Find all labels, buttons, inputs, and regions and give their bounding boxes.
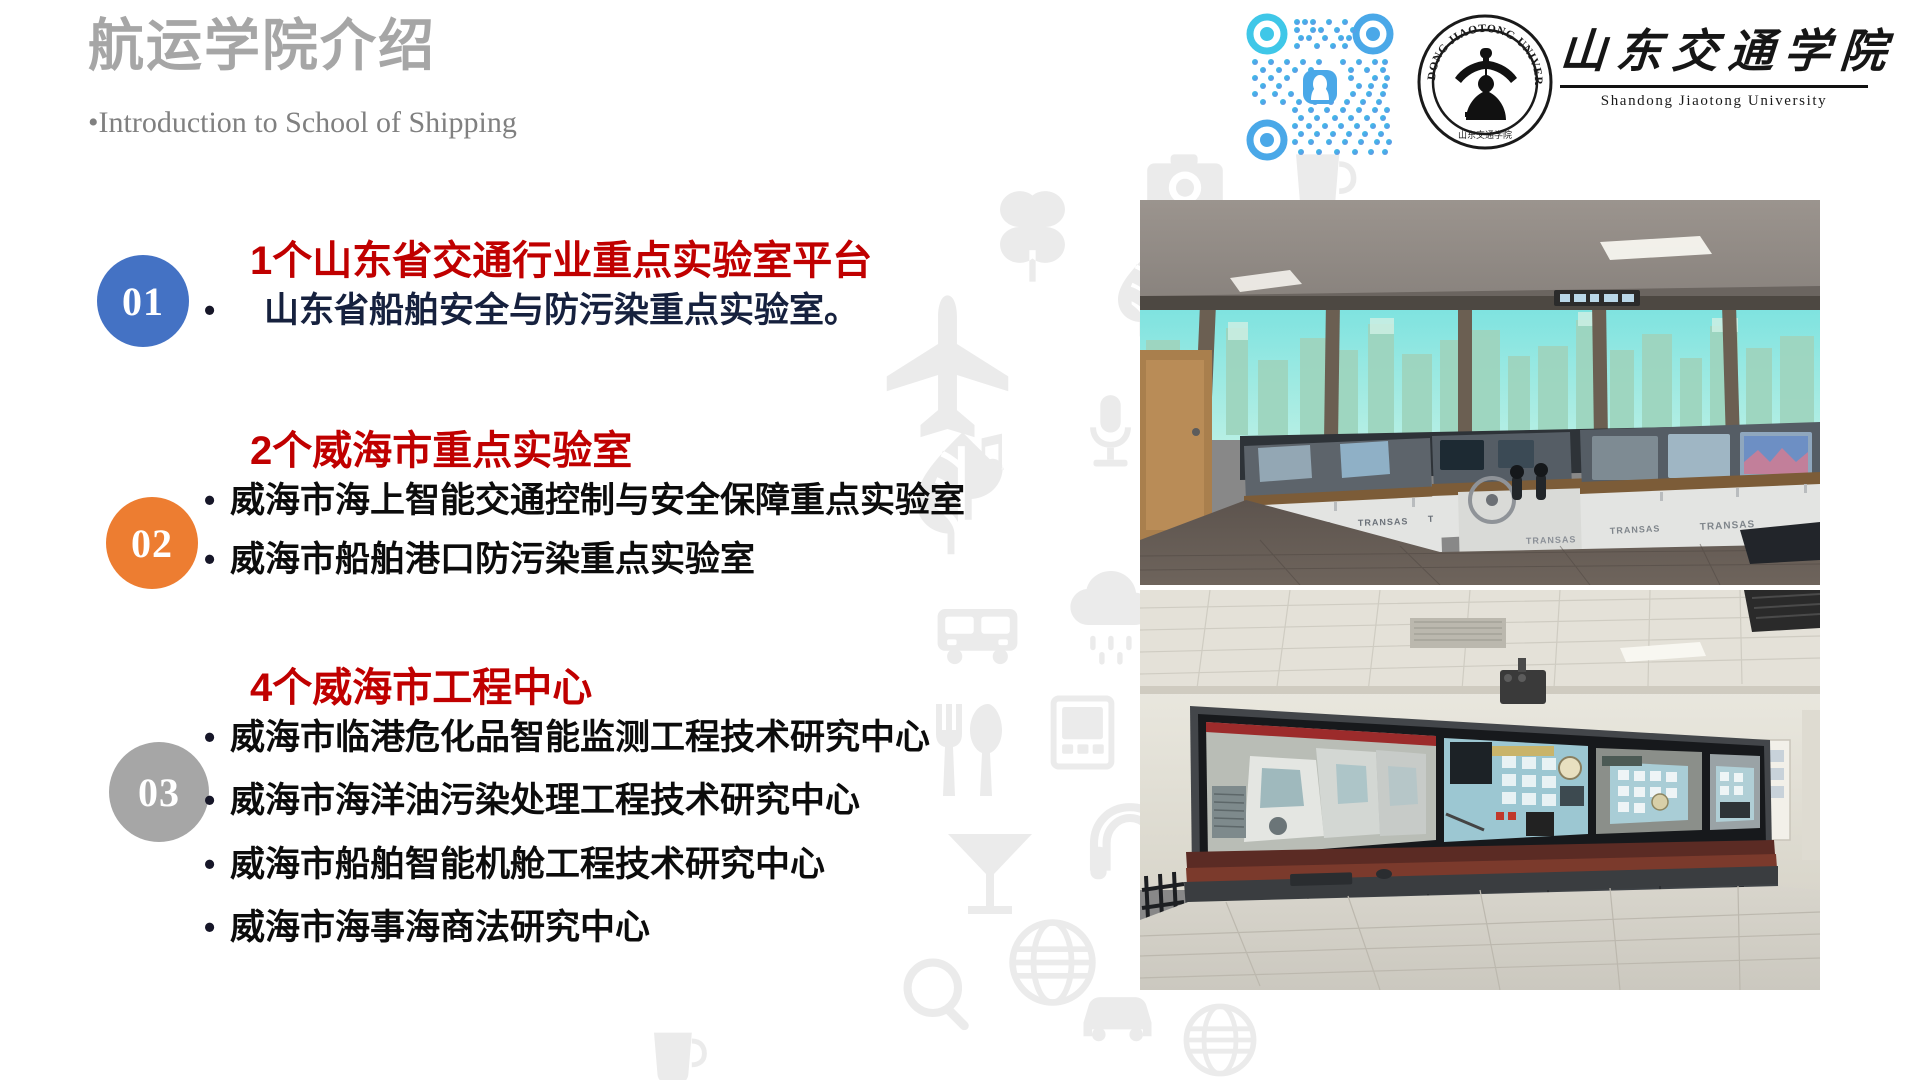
content-group-3: 4个威海市工程中心 • 威海市临港危化品智能监测工程技术研究中心 • 威海市海洋…	[250, 665, 930, 970]
list-item-label: 威海市海洋油污染处理工程技术研究中心	[230, 780, 860, 821]
list-item: • 威海市临港危化品智能监测工程技术研究中心	[204, 717, 930, 758]
list-item: • 威海市船舶智能机舱工程技术研究中心	[204, 844, 930, 885]
list-item: • 威海市船舶港口防污染重点实验室	[204, 539, 965, 580]
list-item-label: 威海市船舶智能机舱工程技术研究中心	[230, 844, 825, 885]
ship-bridge-simulator-photo: TRANSAS TRANSAS TRANSAS TRANSAS	[1140, 200, 1820, 585]
list-item: • 威海市海上智能交通控制与安全保障重点实验室	[204, 480, 965, 521]
group-bullet-list-3: • 威海市临港危化品智能监测工程技术研究中心 • 威海市海洋油污染处理工程技术研…	[250, 717, 930, 948]
group-bullet-list-1: • 山东省船舶安全与防污染重点实验室。	[250, 290, 872, 331]
qq-penguin-icon	[1303, 70, 1337, 104]
group-heading-2: 2个威海市重点实验室	[250, 428, 965, 474]
step-badge-03: 03	[109, 742, 209, 842]
list-item: • 山东省船舶安全与防污染重点实验室。	[204, 290, 872, 331]
svg-text:TRANSAS: TRANSAS	[1526, 534, 1577, 546]
content-group-1: 1个山东省交通行业重点实验室平台 • 山东省船舶安全与防污染重点实验室。	[250, 238, 872, 349]
bullet-glyph: •	[204, 717, 230, 757]
svg-text:TRANSAS: TRANSAS	[1358, 516, 1409, 528]
group-heading-1: 1个山东省交通行业重点实验室平台	[250, 238, 872, 284]
step-badge-02: 02	[106, 497, 198, 589]
engine-room-simulator-photo	[1140, 590, 1820, 990]
list-item: • 威海市海事海商法研究中心	[204, 907, 930, 948]
university-name-zh: 山东交通学院	[1558, 26, 1892, 79]
list-item: • 威海市海洋油污染处理工程技术研究中心	[204, 780, 930, 821]
list-item-label: 山东省船舶安全与防污染重点实验室。	[264, 290, 859, 331]
nameplate-divider	[1560, 85, 1868, 88]
seal-bottom-zh: 山东交通学院	[1458, 129, 1512, 140]
bullet-glyph: •	[204, 539, 230, 579]
content-group-2: 2个威海市重点实验室 • 威海市海上智能交通控制与安全保障重点实验室 • 威海市…	[250, 428, 965, 599]
group-bullet-list-2: • 威海市海上智能交通控制与安全保障重点实验室 • 威海市船舶港口防污染重点实验…	[250, 480, 965, 581]
page-subtitle: •Introduction to School of Shipping	[88, 108, 517, 138]
university-nameplate: 山东交通学院 Shandong Jiaotong University	[1560, 26, 1890, 110]
step-badge-01: 01	[97, 255, 189, 347]
university-seal-icon: SHANDONG JIAOTONG UNIVERSITY 山东交通学院	[1415, 12, 1555, 152]
slide-header: 航运学院介绍 •Introduction to School of Shippi…	[0, 0, 1920, 170]
bullet-glyph: •	[204, 290, 264, 330]
group-heading-3: 4个威海市工程中心	[250, 665, 930, 711]
bullet-glyph: •	[204, 844, 230, 884]
qq-qr-code[interactable]	[1245, 12, 1395, 162]
bullet-glyph: •	[204, 907, 230, 947]
page-title: 航运学院介绍	[88, 18, 436, 74]
list-item-label: 威海市船舶港口防污染重点实验室	[230, 539, 755, 580]
bullet-glyph: •	[204, 780, 230, 820]
list-item-label: 威海市海事海商法研究中心	[230, 907, 650, 948]
university-name-en: Shandong Jiaotong University	[1560, 93, 1868, 110]
slide-root: 航运学院介绍 •Introduction to School of Shippi…	[0, 0, 1920, 1080]
list-item-label: 威海市临港危化品智能监测工程技术研究中心	[230, 717, 930, 758]
bullet-glyph: •	[204, 480, 230, 520]
list-item-label: 威海市海上智能交通控制与安全保障重点实验室	[230, 480, 965, 521]
